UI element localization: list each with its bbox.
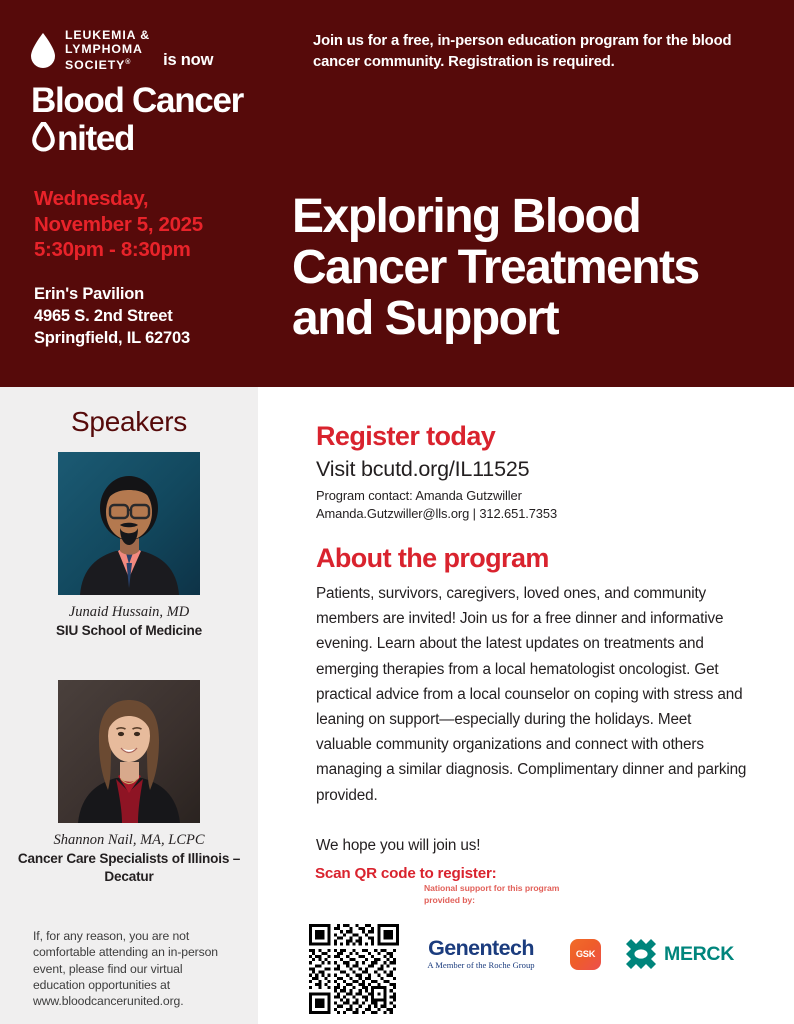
merck-wordmark: MERCK — [664, 943, 734, 966]
about-section: About the program Patients, survivors, c… — [316, 543, 748, 858]
page-title: Exploring Blood Cancer Treatments and Su… — [292, 191, 782, 344]
speaker-name-2: Shannon Nail, MA, LCPC — [0, 831, 258, 849]
event-time: 5:30pm - 8:30pm — [34, 237, 203, 263]
genentech-wordmark: Genentech — [418, 937, 544, 959]
virtual-options-disclaimer: If, for any reason, you are not comforta… — [33, 928, 229, 1009]
venue-city-state-zip: Springfield, IL 62703 — [34, 327, 190, 349]
blood-cancer-united-wordmark: Blood Cancer nited — [31, 83, 243, 158]
event-date-time: Wednesday, November 5, 2025 5:30pm - 8:3… — [34, 186, 203, 263]
about-body: Patients, survivors, caregivers, loved o… — [316, 581, 748, 858]
gsk-logo: GSK — [570, 939, 601, 970]
sponsor-logos: Genentech A Member of the Roche Group GS… — [418, 927, 734, 981]
speaker-name-1: Junaid Hussain, MD — [0, 603, 258, 621]
speakers-heading: Speakers — [0, 406, 258, 438]
lls-wordmark: LEUKEMIA & LYMPHOMA SOCIETY® — [65, 28, 150, 73]
merck-logo: MERCK — [625, 938, 734, 970]
about-paragraph-1: Patients, survivors, caregivers, loved o… — [316, 581, 748, 808]
register-url[interactable]: Visit bcutd.org/IL11525 — [316, 457, 557, 482]
genentech-tagline: A Member of the Roche Group — [418, 960, 544, 971]
venue-name: Erin's Pavilion — [34, 283, 190, 305]
lls-line-1: LEUKEMIA & — [65, 28, 150, 42]
speaker-org-1: SIU School of Medicine — [0, 622, 258, 640]
program-contact: Program contact: Amanda Gutzwiller Amand… — [316, 487, 557, 522]
scan-qr-label: Scan QR code to register: — [315, 865, 497, 884]
qr-code[interactable] — [306, 921, 402, 1017]
header-band: LEUKEMIA & LYMPHOMA SOCIETY® is now Bloo… — [0, 0, 794, 387]
national-support-label: National support for this program provid… — [424, 883, 584, 906]
merck-cross-icon — [625, 938, 657, 970]
program-contact-email-phone[interactable]: Amanda.Gutzwiller@lls.org | 312.651.7353 — [316, 505, 557, 523]
intro-copy: Join us for a free, in-person education … — [313, 31, 745, 73]
brand-line-2-text: nited — [57, 120, 134, 158]
register-section: Register today Visit bcutd.org/IL11525 P… — [316, 421, 557, 522]
about-heading: About the program — [316, 543, 748, 574]
droplet-u-icon — [31, 122, 56, 153]
gsk-wordmark: GSK — [576, 949, 595, 959]
speaker-photo-shannon-nail — [58, 680, 200, 823]
speaker-photo-junaid-hussain — [58, 452, 200, 595]
speaker-org-2: Cancer Care Specialists of Illinois – De… — [0, 850, 258, 885]
blood-drop-icon — [30, 32, 56, 68]
brand-line-1: Blood Cancer — [31, 83, 243, 119]
event-date: November 5, 2025 — [34, 212, 203, 238]
main-content-panel: Register today Visit bcutd.org/IL11525 P… — [258, 387, 794, 1024]
brand-line-2: nited — [31, 119, 243, 158]
genentech-logo: Genentech A Member of the Roche Group — [418, 937, 544, 971]
program-contact-name: Program contact: Amanda Gutzwiller — [316, 487, 557, 505]
lls-trademark: ® — [125, 59, 130, 66]
is-now-label: is now — [163, 51, 213, 73]
about-paragraph-2: We hope you will join us! — [316, 833, 748, 858]
speaker-card-1: Junaid Hussain, MD SIU School of Medicin… — [0, 452, 258, 640]
event-flyer: LEUKEMIA & LYMPHOMA SOCIETY® is now Bloo… — [0, 0, 794, 1024]
lls-line-2: LYMPHOMA — [65, 42, 143, 56]
lls-line-3: SOCIETY — [65, 59, 125, 73]
event-venue: Erin's Pavilion 4965 S. 2nd Street Sprin… — [34, 283, 190, 349]
register-heading: Register today — [316, 421, 557, 452]
venue-street: 4965 S. 2nd Street — [34, 305, 190, 327]
event-day: Wednesday, — [34, 186, 203, 212]
lls-logo-lockup: LEUKEMIA & LYMPHOMA SOCIETY® is now — [30, 28, 213, 73]
speaker-card-2: Shannon Nail, MA, LCPC Cancer Care Speci… — [0, 680, 258, 885]
